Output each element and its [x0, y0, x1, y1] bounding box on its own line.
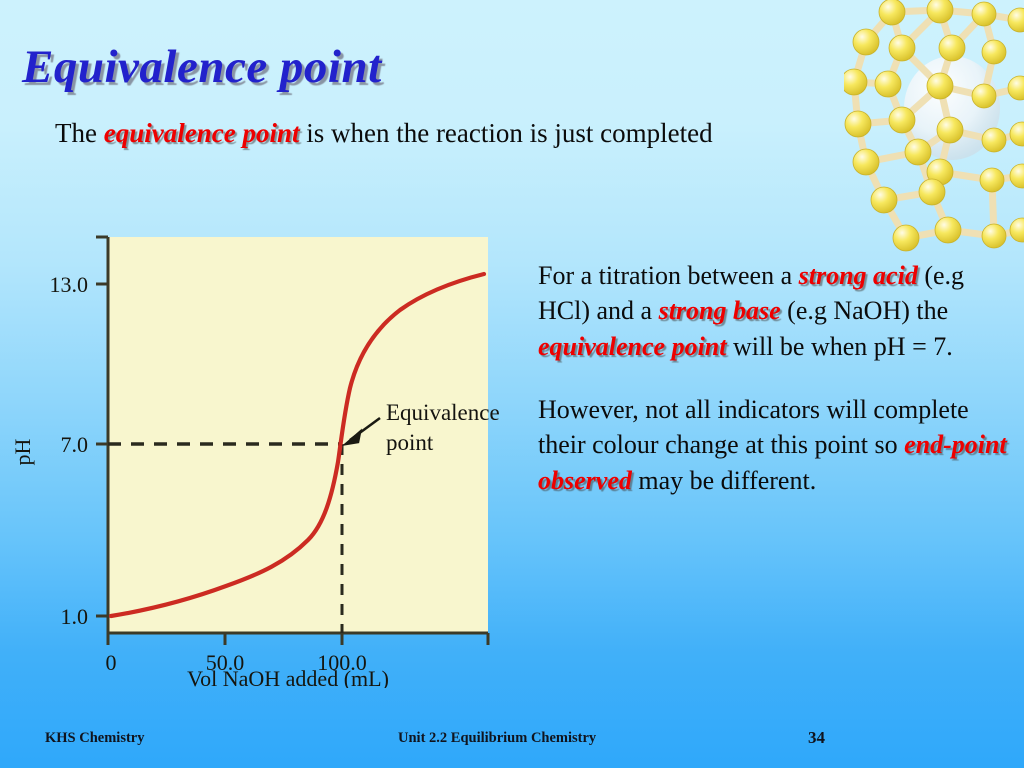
p1-seg3: (e.g NaOH) the — [781, 296, 949, 325]
equivalence-point-annotation-line2: point — [386, 430, 434, 455]
titration-curve-chart: Equivalence point 13.0 7.0 1.0 pH 0 50.0… — [8, 228, 508, 688]
paragraph-strong-acid-base: For a titration between a strong acid (e… — [538, 258, 1008, 364]
fullerene-molecule-graphic — [844, 0, 1024, 272]
x-axis-ticks — [108, 633, 488, 645]
equivalence-point-annotation-line1: Equivalence — [386, 400, 500, 425]
intro-emphasis: equivalence point — [104, 118, 300, 148]
right-text-column: For a titration between a strong acid (e… — [538, 258, 1008, 498]
page-title: Equivalence point — [22, 40, 382, 94]
footer-organisation: KHS Chemistry — [45, 730, 144, 747]
p2-seg2: may be different. — [632, 466, 816, 495]
footer-page-number: 34 — [808, 728, 825, 748]
p1-em1: strong acid — [799, 261, 918, 290]
y-axis-ticks — [96, 237, 108, 616]
intro-text-after: is when the reaction is just completed — [299, 118, 712, 148]
x-tick-label-0: 0 — [106, 650, 117, 675]
x-axis-label: Vol NaOH added (mL) — [187, 666, 389, 688]
y-tick-label-1: 1.0 — [61, 604, 89, 629]
p1-seg4: will be when pH = 7. — [726, 332, 952, 361]
p1-seg1: For a titration between a — [538, 261, 799, 290]
y-tick-label-7: 7.0 — [61, 432, 89, 457]
intro-paragraph: The equivalence point is when the reacti… — [55, 116, 755, 151]
y-tick-label-13: 13.0 — [50, 272, 89, 297]
paragraph-indicators-endpoint: However, not all indicators will complet… — [538, 392, 1008, 498]
p1-em3: equivalence point — [538, 332, 726, 361]
y-axis-label: pH — [10, 438, 35, 465]
slide: Equivalence point The equivalence point … — [0, 0, 1024, 768]
footer-unit-title: Unit 2.2 Equilibrium Chemistry — [398, 730, 596, 747]
slide-footer: KHS Chemistry Unit 2.2 Equilibrium Chemi… — [0, 706, 1024, 768]
intro-text-before: The — [55, 118, 104, 148]
p1-em2: strong base — [659, 296, 781, 325]
